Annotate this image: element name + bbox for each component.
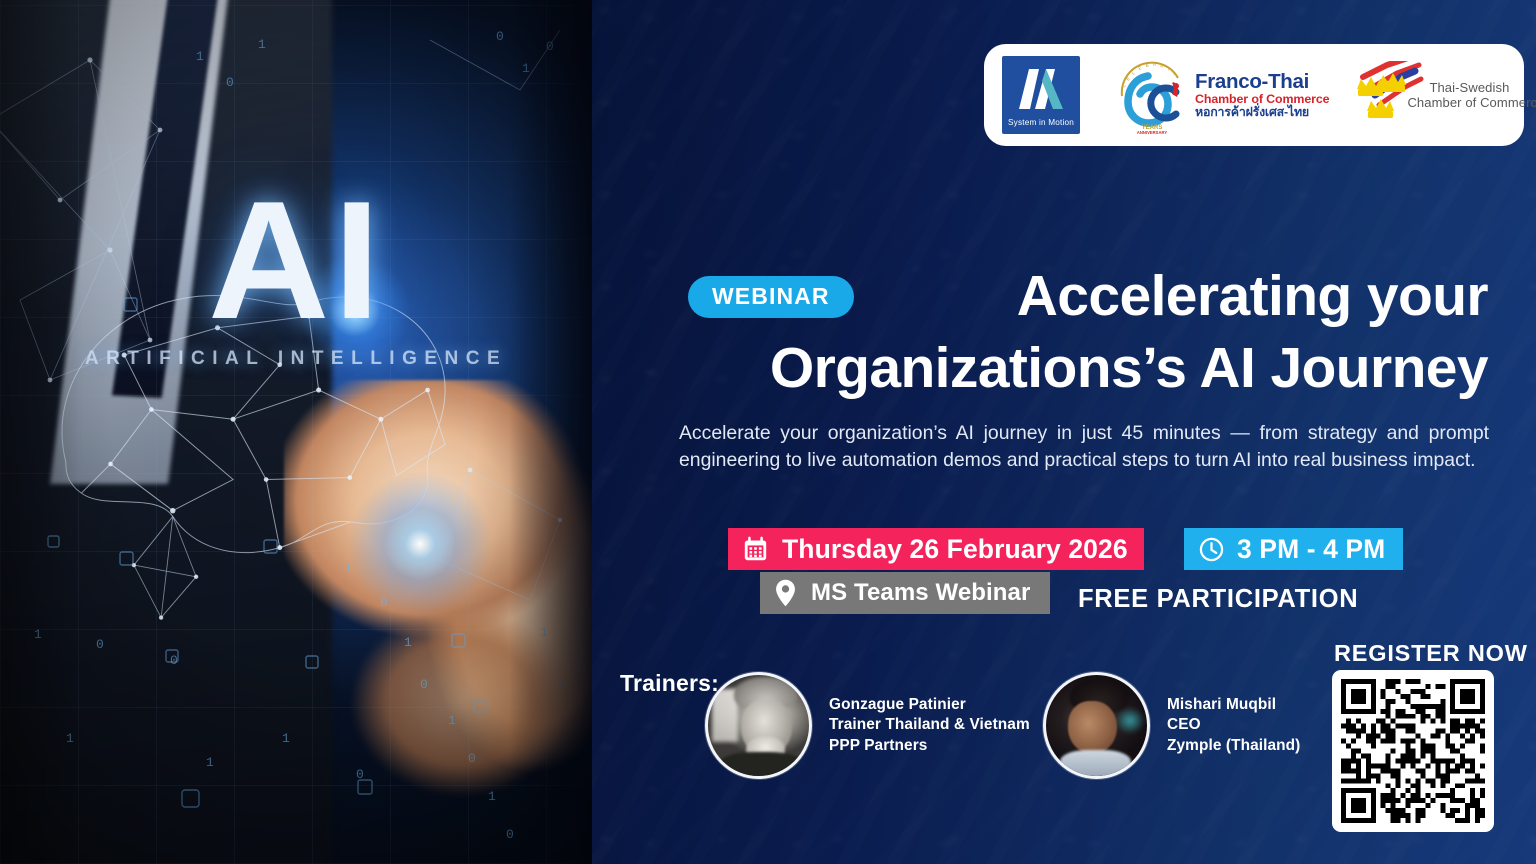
page-title-line2: Organizations’s AI Journey [688, 338, 1488, 400]
franco-thai-anniversary-icon: C E L E B R A T I YEARS ANNIVERSARY [1114, 56, 1190, 134]
hero-vignette [0, 0, 592, 864]
system-in-motion-caption: System in Motion [1008, 118, 1074, 127]
trainer-name: Gonzague Patinier [829, 695, 1030, 716]
anniversary-label-text: ANNIVERSARY [1137, 130, 1168, 134]
thai-swedish-logo: Thai-Swedish Chamber of Commerce [1353, 61, 1536, 129]
thai-swedish-line1: Thai-Swedish [1429, 80, 1536, 95]
franco-thai-logo: C E L E B R A T I YEARS ANNIVERSARY Fran… [1114, 56, 1329, 134]
system-in-motion-logo: System in Motion [1002, 56, 1080, 134]
trainer-company: PPP Partners [829, 736, 1030, 757]
description-text: Accelerate your organization’s AI journe… [679, 420, 1489, 473]
location-text: MS Teams Webinar [811, 581, 1030, 605]
franco-thai-text: Franco-Thai Chamber of Commerce หอการค้า… [1195, 71, 1329, 120]
thai-swedish-line2: Chamber of Commerce [1407, 95, 1536, 110]
page-title-line1: Accelerating your [854, 268, 1488, 325]
webinar-badge: WEBINAR [688, 276, 854, 318]
location-bar: MS Teams Webinar [760, 572, 1050, 614]
partner-logo-bar: System in Motion C E L E B R A T I YEARS… [984, 44, 1524, 146]
webinar-banner: 101 010 100 101 010 10 111 010 [0, 0, 1536, 864]
trainer-info: Gonzague Patinier Trainer Thailand & Vie… [829, 695, 1030, 757]
trainer-info: Mishari Muqbil CEO Zymple (Thailand) [1167, 695, 1300, 757]
free-participation-text: FREE PARTICIPATION [1078, 585, 1358, 614]
avatar [705, 672, 812, 779]
time-text: 3 PM - 4 PM [1237, 536, 1385, 563]
calendar-icon [742, 536, 769, 563]
date-text: Thursday 26 February 2026 [782, 536, 1128, 563]
thai-swedish-crowns-icon [1353, 61, 1425, 129]
svg-text:R: R [1153, 62, 1156, 67]
time-bar: 3 PM - 4 PM [1184, 528, 1403, 570]
franco-thai-line3: หอการค้าฝรั่งเศส-ไทย [1195, 106, 1329, 119]
svg-text:E: E [1125, 76, 1131, 82]
trainer-role: Trainer Thailand & Vietnam [829, 715, 1030, 736]
trainer-name: Mishari Muqbil [1167, 695, 1300, 716]
hero-image: 101 010 100 101 010 10 111 010 [0, 0, 592, 864]
register-now-label: REGISTER NOW [1334, 640, 1528, 667]
clock-icon [1198, 536, 1225, 563]
thai-swedish-text: Thai-Swedish Chamber of Commerce [1429, 80, 1536, 111]
svg-text:L: L [1131, 70, 1136, 76]
date-bar: Thursday 26 February 2026 [728, 528, 1144, 570]
headline-row: WEBINAR Accelerating your [688, 268, 1488, 325]
qr-code-icon [1341, 679, 1485, 823]
franco-thai-line1: Franco-Thai [1195, 71, 1329, 93]
trainer-role: CEO [1167, 715, 1300, 736]
avatar [1043, 672, 1150, 779]
trainer-item: Gonzague Patinier Trainer Thailand & Vie… [705, 672, 1030, 779]
svg-text:E: E [1138, 65, 1143, 71]
system-in-motion-icon [1015, 67, 1067, 111]
map-pin-icon [772, 578, 799, 608]
qr-code[interactable] [1332, 670, 1494, 832]
trainer-company: Zymple (Thailand) [1167, 736, 1300, 757]
svg-text:A: A [1160, 63, 1164, 68]
trainer-item: Mishari Muqbil CEO Zymple (Thailand) [1043, 672, 1300, 779]
